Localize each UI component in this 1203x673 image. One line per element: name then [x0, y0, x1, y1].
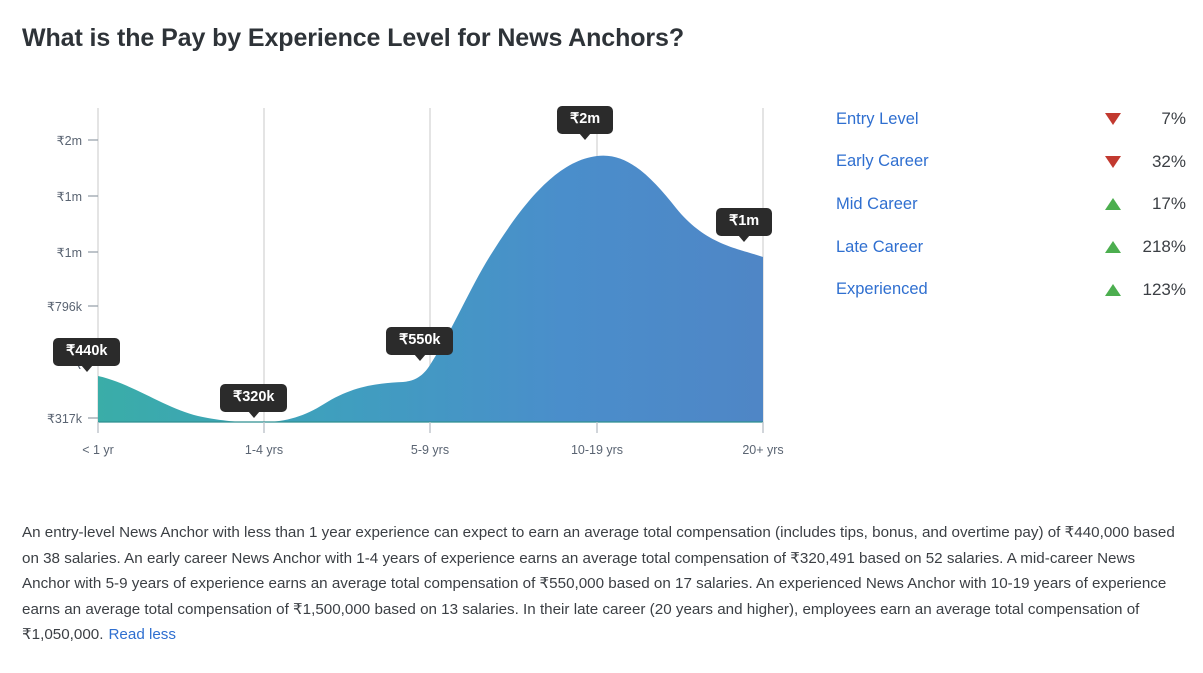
tooltip-arrow-icon: [248, 411, 260, 418]
tooltip-arrow-icon: [414, 354, 426, 361]
chart-x-axis-ticks: [98, 422, 763, 433]
y-tick-label-0: ₹2m: [0, 133, 82, 148]
legend-row-mid-career[interactable]: Mid Career 17%: [836, 183, 1186, 226]
legend-pct-mid-career: 17%: [1130, 194, 1186, 214]
tooltip-value-3: ₹2m: [570, 111, 600, 127]
legend-label-entry-level[interactable]: Entry Level: [836, 110, 919, 129]
y-tick-label-5: ₹317k: [0, 411, 82, 426]
legend-change-late-career: 218%: [1105, 237, 1186, 257]
legend-change-early-career: 32%: [1105, 152, 1186, 172]
tooltip-value-2: ₹550k: [399, 332, 440, 348]
chart-plot-svg: [0, 88, 820, 478]
tooltip-value-4: ₹1m: [729, 213, 759, 229]
triangle-up-icon: [1105, 284, 1121, 296]
experience-level-legend: Entry Level 7% Early Career 32% Mid Care…: [836, 98, 1186, 311]
legend-change-experienced: 123%: [1105, 280, 1186, 300]
legend-change-mid-career: 17%: [1105, 194, 1186, 214]
legend-label-late-career[interactable]: Late Career: [836, 238, 923, 257]
read-less-link[interactable]: Read less: [108, 626, 176, 643]
triangle-down-icon: [1105, 156, 1121, 168]
legend-row-entry-level[interactable]: Entry Level 7%: [836, 98, 1186, 141]
y-tick-label-2: ₹1m: [0, 245, 82, 260]
data-point-tooltip-experienced[interactable]: ₹1m: [716, 208, 772, 236]
tooltip-arrow-icon: [738, 235, 750, 242]
tooltip-arrow-icon: [81, 365, 93, 372]
pay-description: An entry-level News Anchor with less tha…: [22, 520, 1180, 648]
legend-pct-early-career: 32%: [1130, 152, 1186, 172]
triangle-up-icon: [1105, 241, 1121, 253]
legend-change-entry-level: 7%: [1105, 109, 1186, 129]
tooltip-value-0: ₹440k: [66, 343, 107, 359]
x-tick-label-4: 20+ yrs: [703, 443, 823, 457]
legend-pct-entry-level: 7%: [1130, 109, 1186, 129]
x-tick-label-1: 1-4 yrs: [204, 443, 324, 457]
tooltip-value-1: ₹320k: [233, 389, 274, 405]
pay-by-experience-chart: ₹2m ₹1m ₹1m ₹796k ₹ ₹317k < 1 yr 1-4 yrs…: [0, 88, 820, 478]
data-point-tooltip-late-career[interactable]: ₹2m: [557, 106, 613, 134]
x-tick-label-3: 10-19 yrs: [537, 443, 657, 457]
legend-pct-experienced: 123%: [1130, 280, 1186, 300]
legend-row-early-career[interactable]: Early Career 32%: [836, 141, 1186, 184]
x-tick-label-2: 5-9 yrs: [370, 443, 490, 457]
page-title: What is the Pay by Experience Level for …: [22, 24, 684, 53]
chart-y-axis-ticks: [88, 140, 98, 418]
data-point-tooltip-early-career[interactable]: ₹320k: [220, 384, 287, 412]
y-tick-label-1: ₹1m: [0, 189, 82, 204]
x-tick-label-0: < 1 yr: [38, 443, 158, 457]
tooltip-arrow-icon: [579, 133, 591, 140]
legend-label-early-career[interactable]: Early Career: [836, 152, 929, 171]
legend-label-mid-career[interactable]: Mid Career: [836, 195, 918, 214]
legend-row-experienced[interactable]: Experienced 123%: [836, 268, 1186, 311]
legend-row-late-career[interactable]: Late Career 218%: [836, 226, 1186, 269]
data-point-tooltip-mid-career[interactable]: ₹550k: [386, 327, 453, 355]
y-tick-label-3: ₹796k: [0, 299, 82, 314]
triangle-down-icon: [1105, 113, 1121, 125]
legend-pct-late-career: 218%: [1130, 237, 1186, 257]
legend-label-experienced[interactable]: Experienced: [836, 280, 928, 299]
description-text: An entry-level News Anchor with less tha…: [22, 524, 1175, 643]
data-point-tooltip-entry-level[interactable]: ₹440k: [53, 338, 120, 366]
triangle-up-icon: [1105, 198, 1121, 210]
